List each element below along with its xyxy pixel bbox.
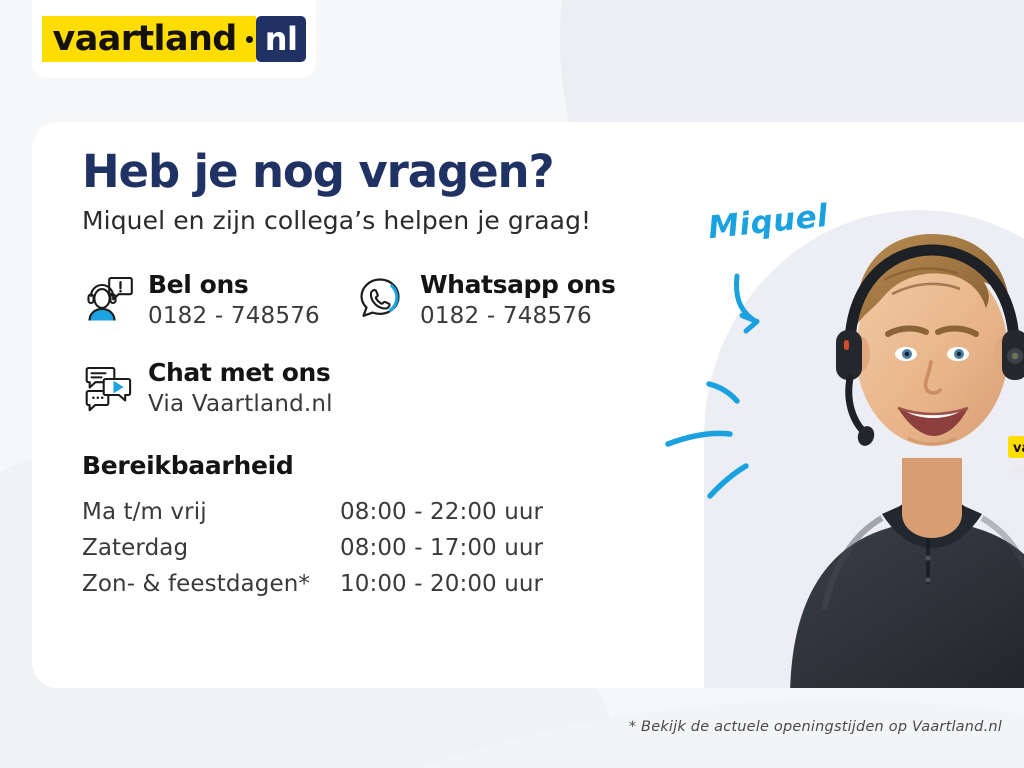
page-title: Heb je nog vragen? xyxy=(82,148,662,195)
opening-hours: Bereikbaarheid Ma t/m vrij 08:00 - 22:00… xyxy=(82,451,662,602)
table-row: Ma t/m vrij 08:00 - 22:00 uur xyxy=(82,494,543,530)
hours-day: Zaterdag xyxy=(82,530,340,566)
table-row: Zaterdag 08:00 - 17:00 uur xyxy=(82,530,543,566)
page-subtitle: Miquel en zijn collega’s helpen je graag… xyxy=(82,206,662,235)
contact-chat-value[interactable]: Via Vaartland.nl xyxy=(148,392,333,417)
hours-day: Ma t/m vrij xyxy=(82,494,340,530)
chat-bubbles-icon xyxy=(82,361,134,413)
contact-call-value[interactable]: 0182 - 748576 xyxy=(148,304,320,329)
hours-time: 08:00 - 22:00 uur xyxy=(340,494,543,530)
whatsapp-icon xyxy=(354,273,406,325)
table-row: Zon- & feestdagen* 10:00 - 20:00 uur xyxy=(82,566,543,602)
svg-text:vaartland: vaartland xyxy=(1013,441,1024,456)
contact-whatsapp-text: Whatsapp ons 0182 - 748576 xyxy=(420,271,616,329)
brand-logo-badge[interactable]: vaartland nl xyxy=(32,0,316,78)
agent-photo-area: Miquel xyxy=(622,122,1024,688)
contact-whatsapp-title: Whatsapp ons xyxy=(420,270,616,299)
dot-separator-icon xyxy=(246,16,256,62)
headset-agent-icon xyxy=(82,273,134,325)
footer-disclaimer: * Bekijk de actuele openingstijden op Va… xyxy=(629,719,1002,735)
brand-logo-wordmark: vaartland xyxy=(42,16,246,62)
card-content: Heb je nog vragen? Miquel en zijn colleg… xyxy=(82,148,662,602)
contact-call-title: Bel ons xyxy=(148,270,248,299)
opening-hours-table: Ma t/m vrij 08:00 - 22:00 uur Zaterdag 0… xyxy=(82,494,543,602)
agent-portrait: vaartland nl doe jezelf een plezier xyxy=(732,140,1024,688)
brand-logo-lockup: vaartland nl xyxy=(42,16,307,62)
contact-method-whatsapp[interactable]: Whatsapp ons 0182 - 748576 xyxy=(354,271,616,329)
brand-logo-tld: nl xyxy=(256,16,307,62)
contact-chat-title: Chat met ons xyxy=(148,358,330,387)
contact-whatsapp-value[interactable]: 0182 - 748576 xyxy=(420,304,616,329)
contact-call-text: Bel ons 0182 - 748576 xyxy=(148,271,320,329)
hours-time: 10:00 - 20:00 uur xyxy=(340,566,543,602)
contact-card: Heb je nog vragen? Miquel en zijn colleg… xyxy=(32,122,1024,688)
hours-time: 08:00 - 17:00 uur xyxy=(340,530,543,566)
polo-brand-logo: vaartland nl doe jezelf een plezier xyxy=(1008,436,1024,476)
contact-method-call[interactable]: Bel ons 0182 - 748576 xyxy=(82,271,320,329)
contact-methods: Bel ons 0182 - 748576 Whatsapp ons 0182 … xyxy=(82,271,662,441)
svg-text:doe jezelf een plezier: doe jezelf een plezier xyxy=(1010,464,1024,476)
hours-day: Zon- & feestdagen* xyxy=(82,566,340,602)
contact-method-chat[interactable]: Chat met ons Via Vaartland.nl xyxy=(82,359,333,417)
contact-chat-text: Chat met ons Via Vaartland.nl xyxy=(148,359,333,417)
opening-hours-title: Bereikbaarheid xyxy=(82,451,662,480)
